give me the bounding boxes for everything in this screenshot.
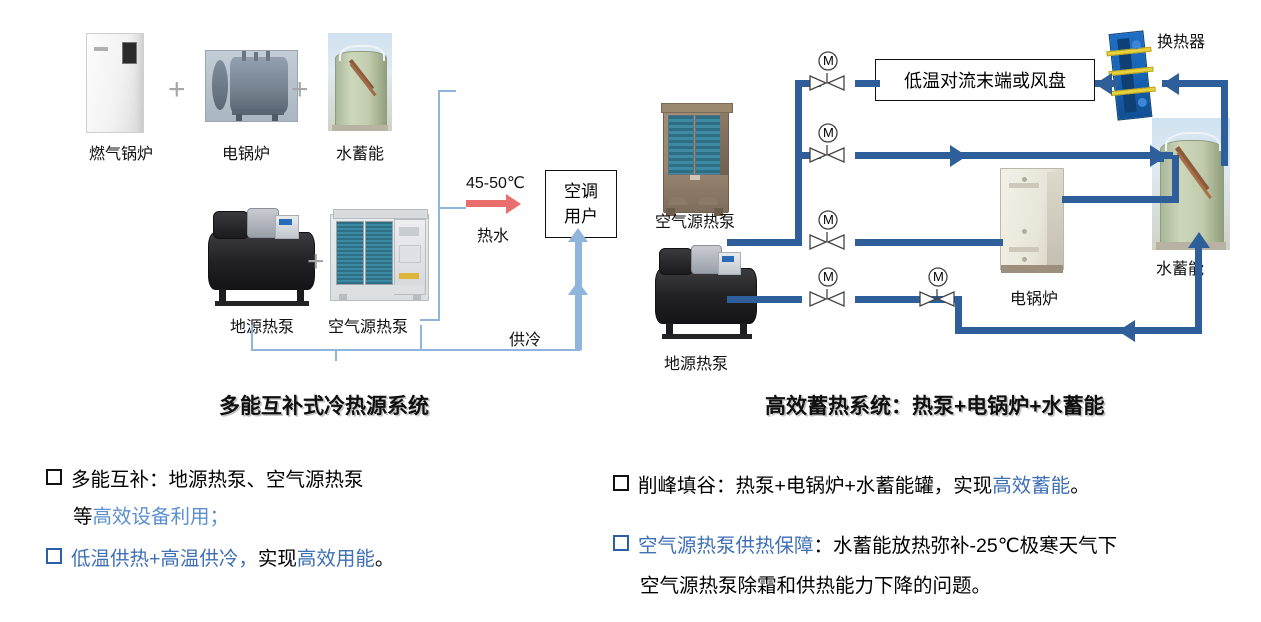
pipe-hx-return [1221,80,1228,166]
right-bullet-2-cont: 空气源热泵除霜和供热能力下降的问题。 [640,568,991,605]
left-diagram-title: 多能互补式冷热源系统 [219,390,429,420]
pipe-ashp-riser [795,80,802,246]
right-bullet-1-b: 高效蓄能 [992,475,1070,497]
pipe-lower-run [855,239,1003,246]
heat-exchanger-label: 换热器 [1157,28,1205,52]
left-bullet-1-line2a: 等 [73,506,93,528]
arrow-tank-up [1188,232,1210,248]
arrow-into-terminal [1095,73,1112,95]
cooling-supply-line [575,240,582,350]
pipe-top-to-box [855,80,880,87]
right-bullet-1-c: 。 [1070,475,1090,497]
plus-sign-3: + [307,245,325,279]
valve-motor-icon-3: M [817,209,839,236]
pipe-gshp-feed [727,296,802,303]
electric-boiler-image-right [1000,168,1064,270]
bracket-bottom-vertical [438,207,440,321]
cooling-supply-arrow-head-top [568,228,588,242]
arrow-into-tank [1150,145,1167,167]
pipe-tank-return [1195,245,1202,334]
bracket-bottom-horizontal [420,319,440,321]
air-source-heat-pump-label-right: 空气源热泵 [655,208,735,232]
cool-branch-left-vertical [251,325,253,351]
valve-motor-letter-2: M [823,125,834,140]
temperature-label: 45-50℃ [466,173,525,193]
left-bullet-1-line2b: 高效设备利用； [93,506,230,528]
left-bullet-2: 低温供热+高温供冷，实现高效用能。 [46,541,394,578]
cool-branch-stub [335,349,337,361]
valve-motor-letter-4: M [823,269,834,284]
air-source-heat-pump-label-left: 空气源热泵 [328,313,408,337]
cool-branch-right-vertical [420,325,422,351]
right-bullet-1-a: 削峰填谷：热泵+电锅炉+水蓄能罐，实现 [638,475,992,497]
bracket-top-horizontal [438,90,456,92]
right-bullet-2-b: ：水蓄能放热弥补-25℃极寒天气下 [814,535,1118,557]
pipe-ashp-bottom [727,239,802,246]
left-bullet-1: 多能互补：地源热泵、空气源热泵 [46,462,364,499]
valve-motor-letter-1: M [823,53,834,68]
heat-exchanger-image [1109,30,1153,120]
ac-user-line2: 用户 [564,204,598,229]
right-diagram-title: 高效蓄热系统：热泵+电锅炉+水蓄能 [765,390,1105,420]
left-bullet-1-line1: 多能互补：地源热泵、空气源热泵 [71,469,364,491]
gas-boiler-label: 燃气锅炉 [89,140,153,164]
ground-source-heat-pump-label: 地源热泵 [230,313,294,337]
left-bullet-1-cont: 等高效设备利用； [73,499,229,536]
left-bullet-2-a: 低温供热+高温供冷， [71,548,258,570]
bullet-marker-square-4 [613,535,629,551]
water-storage-image-right [1152,118,1230,250]
right-bullet-2: 空气源热泵供热保障：水蓄能放热弥补-25℃极寒天气下 [613,528,1117,565]
bracket-top-vertical [438,90,440,208]
bullet-marker-square-3 [613,475,629,491]
pipe-return-run [955,327,1202,334]
ac-user-line1: 空调 [564,179,598,204]
valve-motor-letter-3: M [823,212,834,227]
terminal-box: 低温对流末端或风盘 [875,59,1095,101]
right-bullet-1: 削峰填谷：热泵+电锅炉+水蓄能罐，实现高效蓄能。 [613,468,1090,505]
electric-boiler-image [205,50,298,122]
pipe-mid-run [855,152,1173,159]
hot-water-label: 热水 [477,222,509,246]
bullet-marker-square-1 [46,469,62,485]
arrow-return-left [1118,320,1135,342]
water-storage-label: 水蓄能 [336,140,384,164]
valve-motor-icon-2: M [817,122,839,149]
cooling-supply-arrow-head-mid [568,281,588,295]
right-bullet-2-a: 空气源热泵供热保障 [638,535,814,557]
electric-boiler-label-right: 电锅炉 [1010,285,1058,309]
cooling-label: 供冷 [509,326,541,350]
water-storage-image [328,33,392,131]
hot-water-arrow-head [506,194,521,214]
left-bullet-2-c: 高效用能 [297,548,375,570]
plus-sign-2: + [291,73,309,107]
valve-motor-letter-5: M [933,269,944,284]
ground-source-heat-pump-image [208,232,315,290]
pipe-boiler-out [1062,196,1179,203]
arrow-hx-right-in [1162,73,1179,95]
air-source-heat-pump-image-right [663,108,729,213]
valve-motor-icon-1: M [817,50,839,77]
pipe-boiler-out-riser [1172,155,1179,203]
electric-boiler-label: 电锅炉 [222,140,270,164]
left-bullet-2-d: 。 [375,548,395,570]
hot-water-arrow-shaft [466,200,508,207]
valve-motor-icon-5: M [927,266,949,293]
bullet-marker-square-2 [46,548,62,564]
pipe-return-riser [955,296,962,330]
terminal-box-label: 低温对流末端或风盘 [904,67,1066,93]
plus-sign-1: + [168,73,186,107]
gas-boiler-image [86,33,144,133]
ground-source-heat-pump-label-right: 地源热泵 [664,350,728,374]
valve-motor-icon-4: M [817,266,839,293]
right-bullet-2-line2: 空气源热泵除霜和供热能力下降的问题。 [640,575,991,597]
bracket-mid-horizontal [438,207,466,209]
arrow-mid-run [950,145,967,167]
air-source-heat-pump-image-left [330,214,429,301]
left-bullet-2-b: 实现 [258,548,297,570]
